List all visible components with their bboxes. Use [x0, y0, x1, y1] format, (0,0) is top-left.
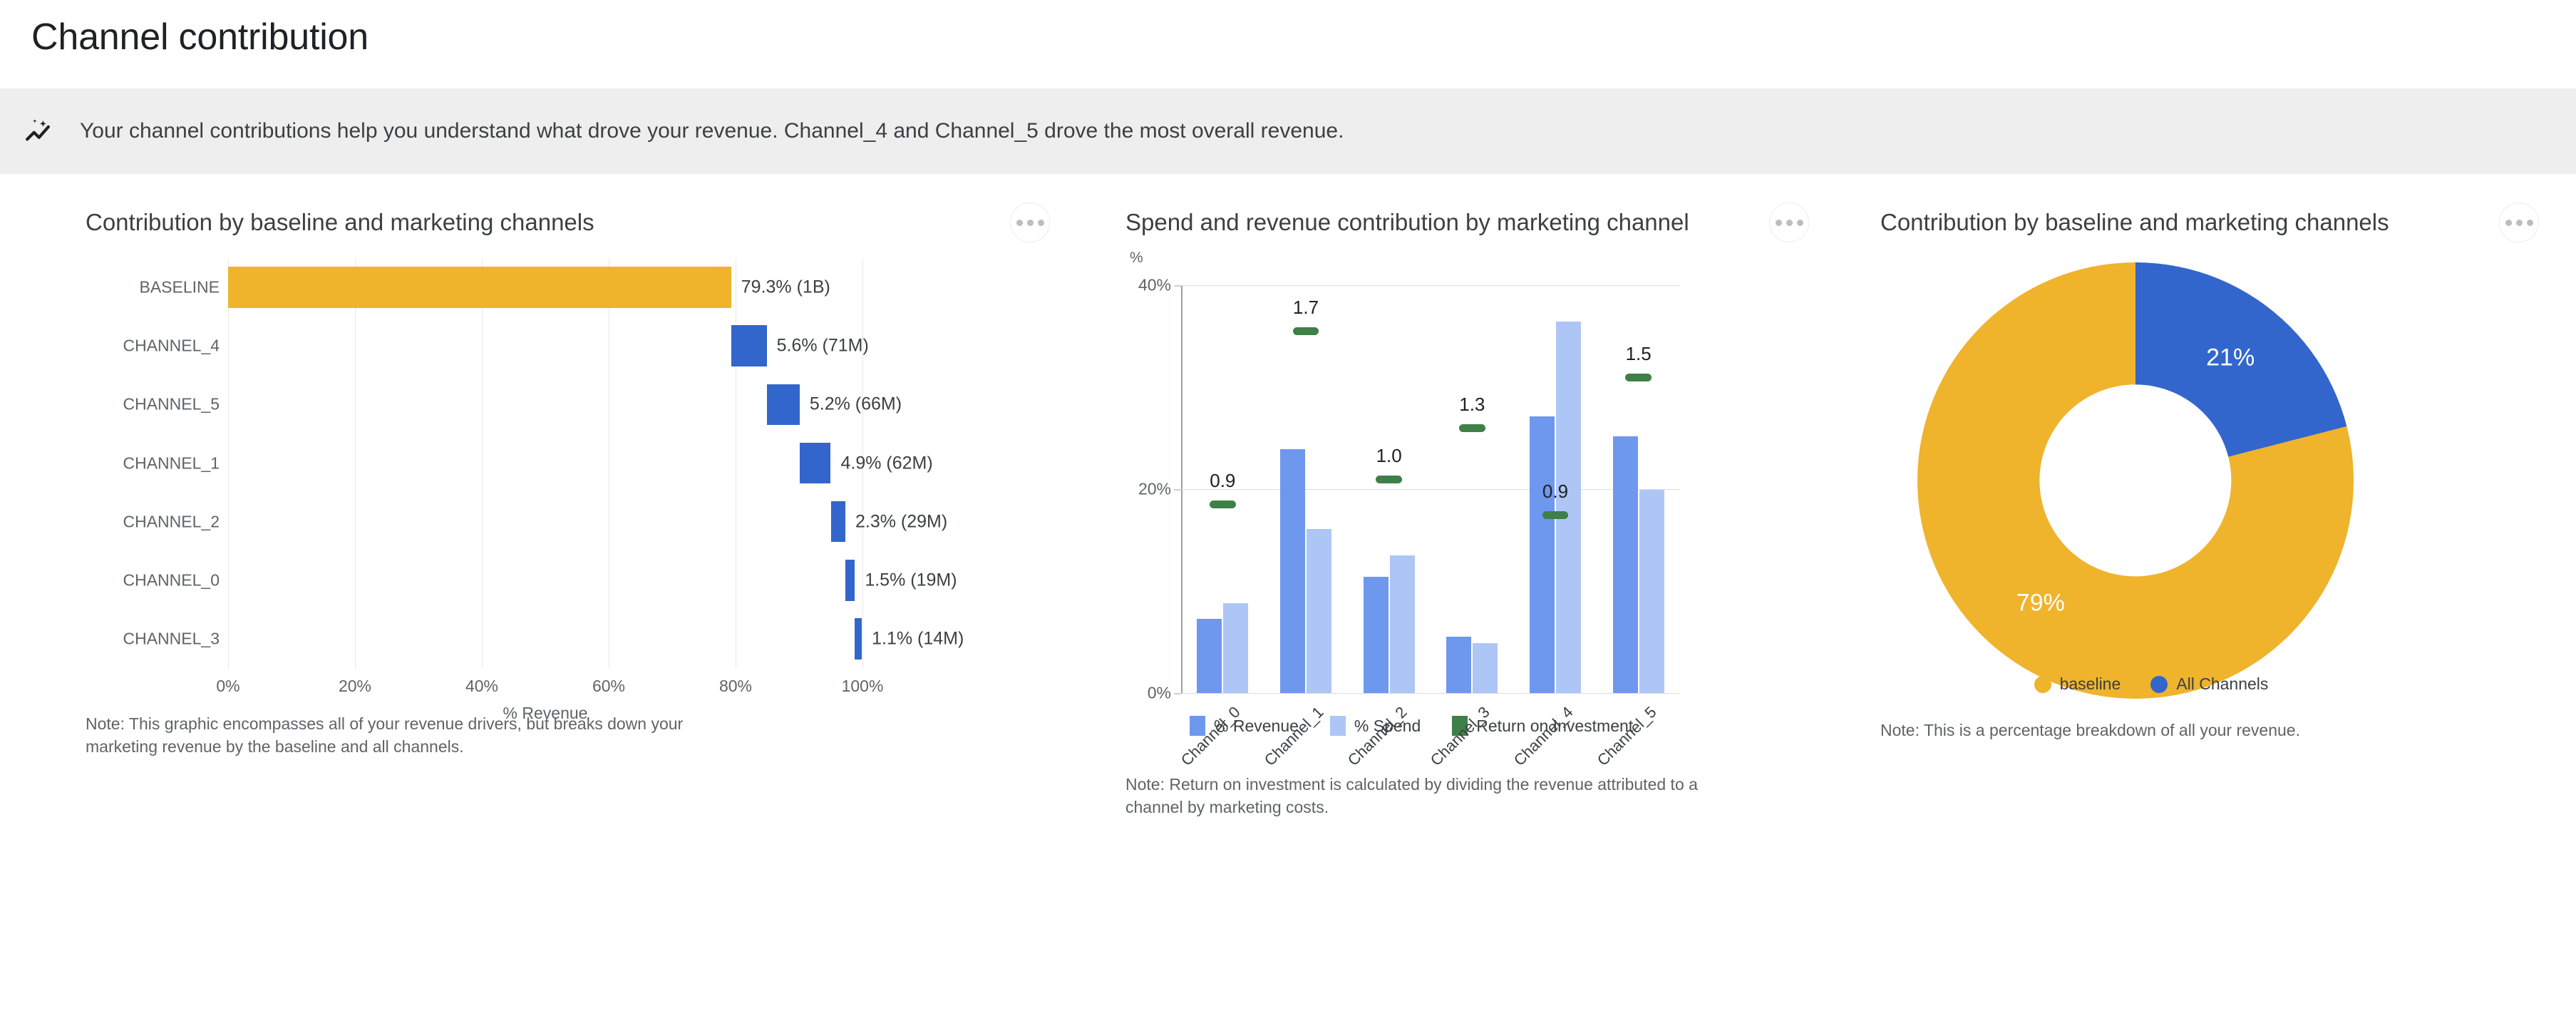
waterfall-row-label: CHANNEL_4: [123, 337, 220, 356]
roi-value-label: 1.3: [1459, 394, 1485, 416]
x-axis-tick: 40%: [465, 677, 498, 696]
waterfall-bar[interactable]: [845, 560, 855, 601]
roi-value-label: 1.7: [1293, 297, 1319, 319]
bar-revenue[interactable]: [1364, 577, 1389, 693]
legend-item[interactable]: All Channels: [2150, 674, 2268, 694]
waterfall-bar[interactable]: [228, 267, 731, 308]
waterfall-bar[interactable]: [831, 501, 845, 543]
dot-icon: [1776, 220, 1782, 226]
bars-x-label: Channel_0: [1178, 703, 1245, 770]
waterfall-value-label: 1.5% (19M): [865, 570, 957, 590]
dot-icon: [2505, 220, 2512, 226]
waterfall-category-labels: BASELINECHANNEL_4CHANNEL_5CHANNEL_1CHANN…: [86, 258, 228, 668]
waterfall-value-label: 79.3% (1B): [741, 277, 830, 298]
donut-hole: [2039, 384, 2231, 576]
bar-spend[interactable]: [1473, 643, 1498, 693]
gridline: [482, 258, 483, 668]
waterfall-row-label: CHANNEL_2: [123, 512, 220, 531]
roi-value-label: 1.5: [1626, 343, 1652, 365]
donut-legend: baselineAll Channels: [1880, 674, 2422, 694]
bar-revenue[interactable]: [1613, 436, 1638, 693]
waterfall-x-axis-label: % Revenue: [228, 704, 862, 723]
waterfall-bar[interactable]: [855, 618, 862, 660]
bar-revenue[interactable]: [1446, 637, 1471, 693]
legend-item[interactable]: baseline: [2034, 674, 2121, 694]
charts-row: Contribution by baseline and marketing c…: [0, 174, 2576, 819]
gridline: [736, 258, 736, 668]
legend-label: baseline: [2060, 674, 2121, 694]
roi-marker[interactable]: [1542, 511, 1568, 519]
waterfall-row-label: CHANNEL_3: [123, 629, 220, 648]
donut-note: Note: This is a percentage breakdown of …: [1880, 719, 2493, 742]
bar-revenue[interactable]: [1530, 416, 1555, 693]
x-axis-tick: 20%: [339, 677, 371, 696]
x-axis-tick: 100%: [842, 677, 884, 696]
bar-spend[interactable]: [1556, 322, 1581, 693]
x-axis-line: [1181, 693, 1680, 694]
waterfall-row-label: BASELINE: [140, 278, 220, 297]
legend-label: All Channels: [2176, 674, 2268, 694]
waterfall-bar[interactable]: [731, 325, 767, 366]
card-bars-header: Spend and revenue contribution by market…: [1125, 208, 1846, 242]
waterfall-row-label: CHANNEL_5: [123, 395, 220, 414]
card-grouped-bars: Spend and revenue contribution by market…: [1087, 174, 1846, 819]
card-waterfall-title: Contribution by baseline and marketing c…: [86, 208, 594, 237]
roi-value-label: 0.9: [1542, 481, 1568, 503]
waterfall-bar[interactable]: [800, 443, 831, 484]
x-axis-tick: 0%: [216, 677, 239, 696]
waterfall-row-label: CHANNEL_1: [123, 453, 220, 473]
more-options-button-donut[interactable]: [2499, 202, 2539, 242]
bar-spend[interactable]: [1223, 603, 1248, 693]
gridline: [1181, 489, 1680, 490]
gridline: [1181, 285, 1680, 286]
page-title: Channel contribution: [0, 0, 2576, 58]
more-options-button-waterfall[interactable]: [1010, 202, 1050, 242]
bars-x-label: Channel_3: [1427, 703, 1494, 770]
roi-value-label: 0.9: [1210, 470, 1235, 492]
donut-chart: 79%21% baselineAll Channels: [1880, 247, 2522, 703]
gridline: [228, 258, 229, 668]
donut-ring: 79%21%: [1917, 262, 2354, 699]
bars-x-axis-labels: Channel_0Channel_1Channel_2Channel_3Chan…: [1181, 699, 1680, 784]
roi-value-label: 1.0: [1376, 445, 1402, 467]
waterfall-value-label: 1.1% (14M): [872, 628, 964, 649]
waterfall-plot-area: BASELINECHANNEL_4CHANNEL_5CHANNEL_1CHANN…: [86, 258, 1005, 668]
bars-x-label: Channel_1: [1261, 703, 1328, 770]
y-axis-tick: 20%: [1138, 480, 1171, 499]
waterfall-value-label: 2.3% (29M): [855, 511, 947, 532]
legend-dot-icon: [2150, 676, 2168, 693]
grouped-bar-chart: 0%20%40%0.91.71.01.30.91.5 Channel_0Chan…: [1125, 272, 1696, 714]
waterfall-chart: BASELINECHANNEL_4CHANNEL_5CHANNEL_1CHANN…: [86, 258, 1087, 668]
bars-x-label: Channel_5: [1593, 703, 1660, 770]
card-waterfall-header: Contribution by baseline and marketing c…: [86, 208, 1087, 242]
roi-marker[interactable]: [1293, 327, 1319, 335]
waterfall-value-label: 4.9% (62M): [841, 453, 933, 473]
dot-icon: [1797, 220, 1803, 226]
waterfall-value-label: 5.2% (66M): [810, 394, 902, 415]
y-axis-tick: 40%: [1138, 276, 1171, 295]
x-axis-tick: 60%: [592, 677, 625, 696]
dot-icon: [2516, 220, 2523, 226]
dot-icon: [1038, 220, 1044, 226]
insight-text: Your channel contributions help you unde…: [80, 119, 1344, 143]
legend-dot-icon: [2034, 676, 2051, 693]
bars-x-label: Channel_2: [1344, 703, 1411, 770]
bars-plot-area: 0%20%40%0.91.71.01.30.91.5: [1181, 285, 1680, 693]
bar-spend[interactable]: [1390, 555, 1415, 693]
more-options-button-bars[interactable]: [1769, 202, 1809, 242]
bars-x-label: Channel_4: [1510, 703, 1577, 770]
waterfall-gridlines: 79.3% (1B)5.6% (71M)5.2% (66M)4.9% (62M)…: [228, 258, 862, 668]
bars-y-unit-label: %: [1130, 250, 1846, 267]
waterfall-value-label: 5.6% (71M): [777, 336, 869, 356]
bar-revenue[interactable]: [1280, 449, 1305, 693]
y-axis-tick: 0%: [1148, 684, 1171, 703]
bar-spend[interactable]: [1639, 490, 1664, 693]
gridline: [355, 258, 356, 668]
dot-icon: [1016, 220, 1023, 226]
dot-icon: [1027, 220, 1034, 226]
bar-spend[interactable]: [1307, 529, 1331, 693]
waterfall-x-axis: 0%20%40%60%80%100%: [228, 668, 862, 697]
insights-sparkle-icon: [19, 112, 57, 150]
insight-banner: Your channel contributions help you unde…: [0, 88, 2576, 174]
gridline: [609, 258, 609, 668]
bar-revenue[interactable]: [1197, 619, 1222, 693]
roi-marker[interactable]: [1376, 476, 1401, 483]
card-donut-title: Contribution by baseline and marketing c…: [1880, 208, 2389, 237]
roi-marker[interactable]: [1210, 501, 1235, 508]
dot-icon: [2527, 220, 2533, 226]
card-bars-title: Spend and revenue contribution by market…: [1125, 208, 1689, 237]
roi-marker[interactable]: [1459, 424, 1485, 432]
card-donut: Contribution by baseline and marketing c…: [1846, 174, 2576, 819]
donut-slice-label: 79%: [2016, 589, 2065, 617]
donut-slice-label: 21%: [2206, 344, 2255, 372]
card-waterfall: Contribution by baseline and marketing c…: [0, 174, 1087, 819]
dot-icon: [1786, 220, 1793, 226]
roi-marker[interactable]: [1625, 374, 1651, 381]
waterfall-row-label: CHANNEL_0: [123, 570, 220, 590]
x-axis-tick: 80%: [719, 677, 752, 696]
waterfall-bar[interactable]: [767, 384, 800, 426]
card-donut-header: Contribution by baseline and marketing c…: [1880, 208, 2576, 242]
